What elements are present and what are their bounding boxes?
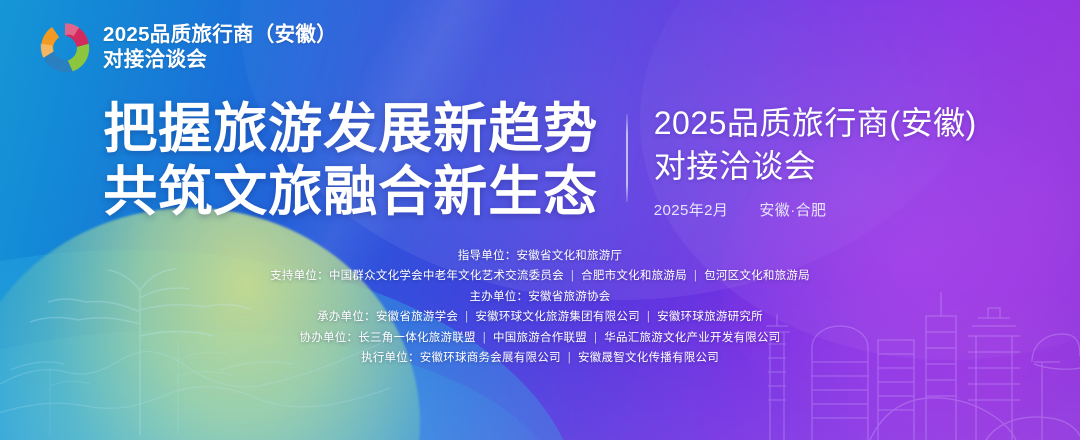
hero-section: 把握旅游发展新趋势 共筑文旅融合新生态 2025品质旅行商(安徽) 对接洽谈会 …	[0, 98, 1080, 224]
brand-name: 2025品质旅行商（安徽） 对接洽谈会	[103, 22, 337, 72]
credit-item: 长三角一体化旅游联盟	[358, 332, 476, 344]
credit-item: 合肥市文化和旅游局	[581, 270, 687, 282]
credit-label: 指导单位：	[458, 250, 517, 262]
credit-item: 包河区文化和旅游局	[704, 270, 810, 282]
event-date: 2025年2月	[654, 202, 729, 219]
event-meta: 2025年2月 安徽·合肥	[654, 199, 977, 220]
credit-item: 安徽环球旅游研究所	[657, 311, 763, 323]
credit-label: 执行单位：	[361, 352, 420, 364]
brand-name-line2: 对接洽谈会	[103, 47, 337, 72]
event-title-line-1: 2025品质旅行商(安徽)	[654, 102, 977, 145]
brand-lockup: 2025品质旅行商（安徽） 对接洽谈会	[38, 20, 337, 74]
credit-separator: |	[561, 348, 578, 368]
credit-line: 承办单位：安徽省旅游学会|安徽环球文化旅游集团有限公司|安徽环球旅游研究所	[0, 307, 1080, 327]
credit-item: 安徽省旅游学会	[376, 311, 458, 323]
credit-item: 安徽省旅游协会	[528, 291, 610, 303]
event-title-line-2: 对接洽谈会	[654, 145, 977, 188]
credit-label: 主办单位：	[470, 291, 529, 303]
credit-separator: |	[458, 307, 475, 327]
credit-line: 执行单位：安徽环球商务会展有限公司|安徽晟智文化传播有限公司	[0, 348, 1080, 368]
credit-separator: |	[564, 266, 581, 286]
event-title: 2025品质旅行商(安徽) 对接洽谈会	[654, 102, 977, 187]
pinwheel-logo-icon	[38, 20, 92, 74]
credit-item: 安徽晟智文化传播有限公司	[578, 352, 719, 364]
credit-label: 承办单位：	[317, 311, 376, 323]
credit-item: 中国旅游合作联盟	[493, 332, 587, 344]
slogan-line-2: 共筑文旅融合新生态	[103, 161, 598, 224]
credit-label: 支持单位：	[270, 270, 329, 282]
credit-label: 协办单位：	[300, 332, 359, 344]
credit-item: 安徽环球商务会展有限公司	[420, 352, 561, 364]
credit-item: 安徽省文化和旅游厅	[517, 250, 623, 262]
credit-separator: |	[640, 307, 657, 327]
credit-item: 华品汇旅游文化产业开发有限公司	[604, 332, 780, 344]
credit-line: 指导单位：安徽省文化和旅游厅	[0, 246, 1080, 266]
credit-separator: |	[687, 266, 704, 286]
brand-name-line1: 2025品质旅行商（安徽）	[103, 22, 337, 47]
event-title-block: 2025品质旅行商(安徽) 对接洽谈会 2025年2月 安徽·合肥	[628, 98, 977, 220]
credit-item: 中国群众文化学会中老年文化艺术交流委员会	[329, 270, 564, 282]
credit-line: 主办单位：安徽省旅游协会	[0, 287, 1080, 307]
event-banner: 2025品质旅行商（安徽） 对接洽谈会 把握旅游发展新趋势 共筑文旅融合新生态 …	[0, 0, 1080, 440]
credit-line: 支持单位：中国群众文化学会中老年文化艺术交流委员会|合肥市文化和旅游局|包河区文…	[0, 266, 1080, 286]
credit-separator: |	[476, 328, 493, 348]
credit-line: 协办单位：长三角一体化旅游联盟|中国旅游合作联盟|华品汇旅游文化产业开发有限公司	[0, 328, 1080, 348]
organizer-credits: 指导单位：安徽省文化和旅游厅支持单位：中国群众文化学会中老年文化艺术交流委员会|…	[0, 246, 1080, 369]
event-location: 安徽·合肥	[759, 202, 826, 219]
credit-item: 安徽环球文化旅游集团有限公司	[475, 311, 640, 323]
event-slogan: 把握旅游发展新趋势 共筑文旅融合新生态	[103, 98, 626, 224]
slogan-line-1: 把握旅游发展新趋势	[103, 98, 598, 161]
credit-separator: |	[587, 328, 604, 348]
